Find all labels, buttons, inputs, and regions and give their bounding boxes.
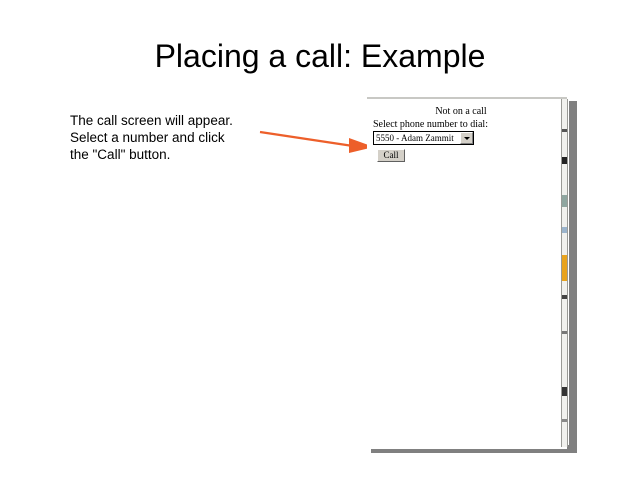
app-scrollbar[interactable] bbox=[561, 99, 568, 447]
body-text-line-3: the "Call" button. bbox=[70, 146, 270, 163]
body-text-line-1: The call screen will appear. bbox=[70, 112, 270, 129]
chevron-down-icon[interactable] bbox=[460, 132, 473, 144]
body-text: The call screen will appear. Select a nu… bbox=[70, 112, 270, 163]
phone-select-label: Select phone number to dial: bbox=[373, 119, 488, 130]
scrollbar-tick bbox=[562, 419, 567, 422]
page-title: Placing a call: Example bbox=[0, 38, 640, 75]
call-status-text: Not on a call bbox=[367, 106, 555, 117]
body-text-line-2: Select a number and click bbox=[70, 129, 270, 146]
call-screen-screenshot: Not on a call Select phone number to dia… bbox=[367, 97, 567, 449]
scrollbar-tick bbox=[562, 387, 567, 396]
phone-number-select-value: 5550 - Adam Zammit bbox=[374, 133, 460, 143]
scrollbar-tick bbox=[562, 295, 567, 299]
scrollbar-marker bbox=[562, 255, 567, 281]
scrollbar-tick bbox=[562, 195, 567, 207]
screenshot-shadow-right bbox=[569, 101, 577, 453]
call-button[interactable]: Call bbox=[377, 149, 405, 162]
pointer-arrow-icon bbox=[255, 120, 380, 160]
scrollbar-tick bbox=[562, 157, 567, 164]
scrollbar-tick bbox=[562, 227, 567, 233]
scrollbar-tick bbox=[562, 331, 567, 334]
phone-number-select[interactable]: 5550 - Adam Zammit bbox=[373, 131, 474, 145]
scrollbar-tick bbox=[562, 129, 567, 132]
